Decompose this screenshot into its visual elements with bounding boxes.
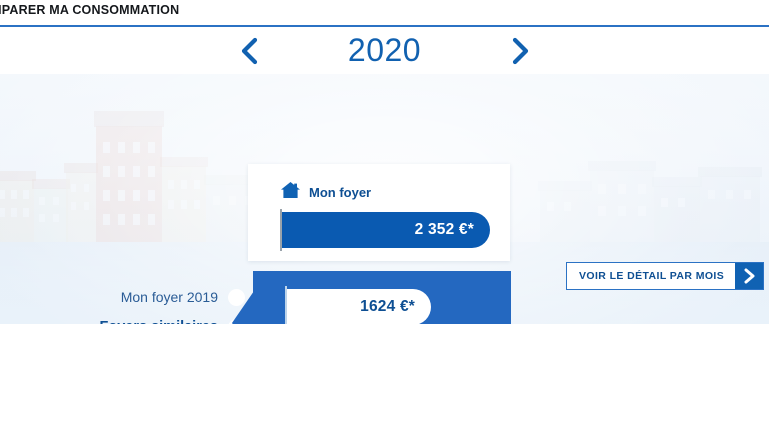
comparison-option-foyers-similaires[interactable]: Foyers similaires xyxy=(60,312,245,324)
previous-year-button[interactable] xyxy=(232,32,266,70)
my-household-value: 2 352 €* xyxy=(415,221,474,239)
page-title: COMPARER MA CONSOMMATION xyxy=(0,3,179,17)
current-year-label: 2020 xyxy=(266,34,503,68)
comparison-options-list: Mon foyer 2019 Foyers similaires xyxy=(60,282,245,324)
chevron-right-icon xyxy=(735,263,763,289)
my-household-bar: 2 352 €* xyxy=(280,212,490,248)
hero-section: Mon foyer 2019 Foyers similaires Mon foy… xyxy=(0,74,769,324)
card-pointer-notch xyxy=(232,291,254,324)
my-household-card: Mon foyer 2 352 €* xyxy=(248,164,510,261)
chevron-right-icon xyxy=(510,36,530,66)
comparison-option-label: Mon foyer 2019 xyxy=(121,289,218,305)
similar-households-bar-fill: 1624 €* xyxy=(287,289,431,324)
view-monthly-detail-label: VOIR LE DÉTAIL PAR MOIS xyxy=(567,263,735,289)
page-header: COMPARER MA CONSOMMATION xyxy=(0,0,769,26)
summary-bar: € KWH +45% Entre le 01/01/2020 et le 31/… xyxy=(0,324,769,433)
next-year-button[interactable] xyxy=(503,32,537,70)
house-icon xyxy=(280,181,301,204)
similar-households-value: 1624 €* xyxy=(360,298,415,316)
my-household-header: Mon foyer xyxy=(280,181,371,204)
similar-households-card: 1624 €* Foyers similaires xyxy=(253,271,511,324)
my-household-label: Mon foyer xyxy=(309,185,371,200)
similar-households-bar: 1624 €* xyxy=(285,289,431,324)
chevron-left-icon xyxy=(239,36,259,66)
year-navigation: 2020 xyxy=(0,27,769,74)
comparison-option-mon-foyer-2019[interactable]: Mon foyer 2019 xyxy=(60,282,245,312)
my-household-bar-fill: 2 352 €* xyxy=(282,212,490,248)
compare-consumption-widget: COMPARER MA CONSOMMATION 2020 xyxy=(0,0,769,433)
view-monthly-detail-button[interactable]: VOIR LE DÉTAIL PAR MOIS xyxy=(566,262,764,290)
